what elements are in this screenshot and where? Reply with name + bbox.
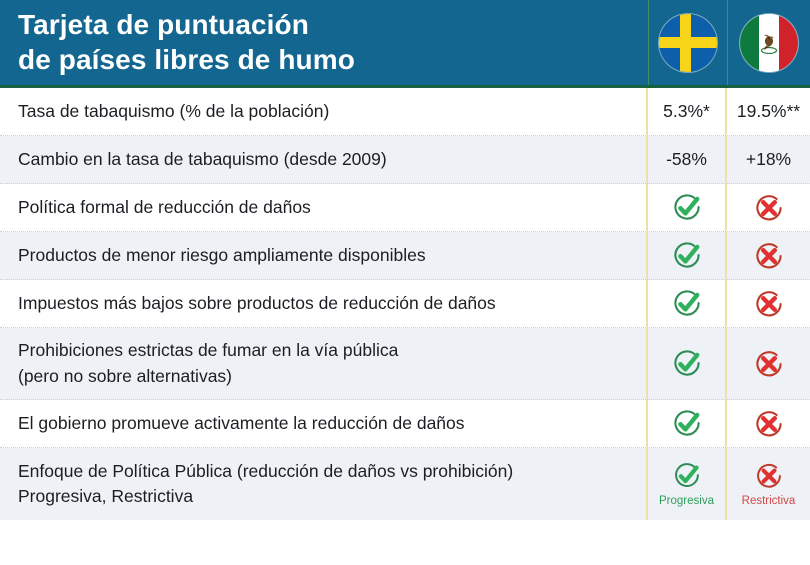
row-label-line: Productos de menor riesgo ampliamente di… xyxy=(18,243,632,268)
check-circle-icon xyxy=(671,460,703,492)
cell-mexico xyxy=(727,400,810,447)
cell-mexico: +18% xyxy=(727,136,810,183)
page-title: Tarjeta de puntuación de países libres d… xyxy=(0,0,648,85)
title-line-1: Tarjeta de puntuación xyxy=(18,8,648,43)
row-label: Impuestos más bajos sobre productos de r… xyxy=(0,280,648,327)
cross-circle-icon xyxy=(753,460,785,492)
cell-sublabel: Restrictiva xyxy=(742,496,796,508)
check-circle-icon xyxy=(670,347,704,381)
row-label-line: El gobierno promueve activamente la redu… xyxy=(18,411,632,436)
row-label-line: Prohibiciones estrictas de fumar en la v… xyxy=(18,338,632,363)
cell-value-text: 5.3%* xyxy=(663,101,710,122)
smoke-free-scorecard: Tarjeta de puntuación de países libres d… xyxy=(0,0,810,565)
row-label-line: Política formal de reducción de daños xyxy=(18,195,632,220)
cell-mexico xyxy=(727,184,810,231)
row-label: Tasa de tabaquismo (% de la población) xyxy=(0,88,648,135)
row-label-line: Cambio en la tasa de tabaquismo (desde 2… xyxy=(18,147,632,172)
cell-value-text: +18% xyxy=(746,149,791,170)
column-header-sweden xyxy=(648,0,727,85)
cell-sweden xyxy=(648,328,727,399)
cell-sweden xyxy=(648,400,727,447)
table-row: Productos de menor riesgo ampliamente di… xyxy=(0,232,810,280)
table-row: Cambio en la tasa de tabaquismo (desde 2… xyxy=(0,136,810,184)
sweden-cross-horizontal xyxy=(659,37,717,48)
table-row: Impuestos más bajos sobre productos de r… xyxy=(0,280,810,328)
table-row: Prohibiciones estrictas de fumar en la v… xyxy=(0,328,810,400)
row-label: Enfoque de Política Pública (reducción d… xyxy=(0,448,648,520)
cell-sweden xyxy=(648,280,727,327)
table-row: El gobierno promueve activamente la redu… xyxy=(0,400,810,448)
cross-circle-icon xyxy=(752,407,786,441)
row-label: Productos de menor riesgo ampliamente di… xyxy=(0,232,648,279)
cell-sweden xyxy=(648,184,727,231)
check-circle-icon xyxy=(670,287,704,321)
cell-sublabel: Progresiva xyxy=(659,496,714,508)
cell-sweden: -58% xyxy=(648,136,727,183)
mexico-band-red xyxy=(779,14,798,72)
check-circle-icon xyxy=(670,239,704,273)
title-line-2: de países libres de humo xyxy=(18,43,648,78)
cross-circle-icon xyxy=(752,191,786,225)
mexico-flag-icon xyxy=(740,14,798,72)
table-row: Política formal de reducción de daños xyxy=(0,184,810,232)
cell-mexico xyxy=(727,280,810,327)
row-label: Prohibiciones estrictas de fumar en la v… xyxy=(0,328,648,399)
row-label-line: Enfoque de Política Pública (reducción d… xyxy=(18,459,632,484)
row-label-line: (pero no sobre alternativas) xyxy=(18,364,632,389)
sweden-flag-icon xyxy=(659,14,717,72)
cross-circle-icon xyxy=(752,239,786,273)
cell-mexico: 19.5%** xyxy=(727,88,810,135)
row-label: El gobierno promueve activamente la redu… xyxy=(0,400,648,447)
cell-mexico xyxy=(727,232,810,279)
cross-circle-icon xyxy=(752,347,786,381)
cell-mexico: Restrictiva xyxy=(727,448,810,520)
cell-sweden: Progresiva xyxy=(648,448,727,520)
row-label: Cambio en la tasa de tabaquismo (desde 2… xyxy=(0,136,648,183)
table-row: Tasa de tabaquismo (% de la población) 5… xyxy=(0,88,810,136)
cell-sweden xyxy=(648,232,727,279)
mexico-eagle-emblem-icon xyxy=(757,32,781,54)
cell-sweden: 5.3%* xyxy=(648,88,727,135)
row-label-line: Tasa de tabaquismo (% de la población) xyxy=(18,99,632,124)
table-row: Enfoque de Política Pública (reducción d… xyxy=(0,448,810,520)
cross-circle-icon xyxy=(752,287,786,321)
check-circle-icon xyxy=(670,191,704,225)
cell-value-text: 19.5%** xyxy=(737,101,800,122)
row-label-line: Progresiva, Restrictiva xyxy=(18,484,632,509)
row-label-line: Impuestos más bajos sobre productos de r… xyxy=(18,291,632,316)
row-label: Política formal de reducción de daños xyxy=(0,184,648,231)
column-header-mexico xyxy=(727,0,810,85)
check-circle-icon xyxy=(670,407,704,441)
scorecard-header: Tarjeta de puntuación de países libres d… xyxy=(0,0,810,88)
cell-value-text: -58% xyxy=(666,149,707,170)
scorecard-rows: Tasa de tabaquismo (% de la población) 5… xyxy=(0,88,810,520)
cell-mexico xyxy=(727,328,810,399)
